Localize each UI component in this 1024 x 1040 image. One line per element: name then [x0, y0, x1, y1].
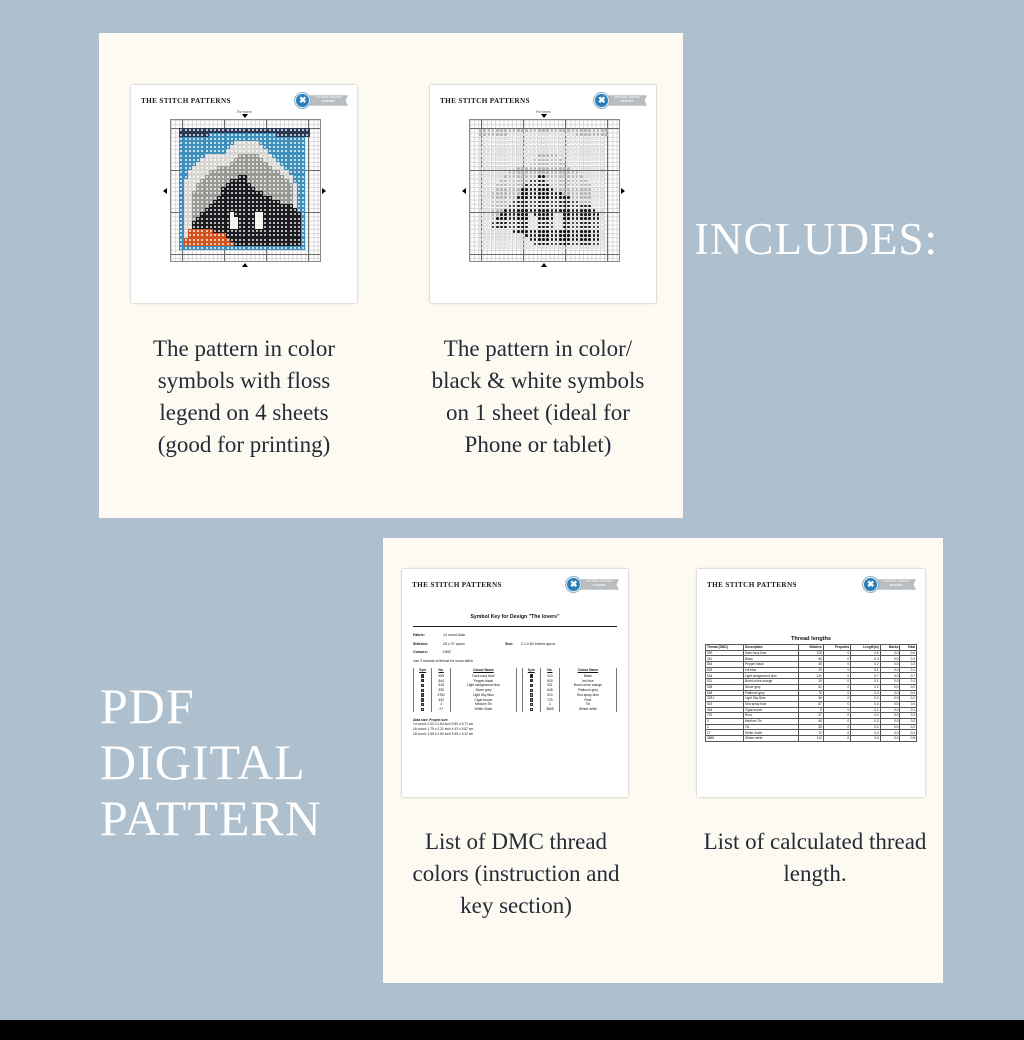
stitch-cell	[542, 238, 545, 241]
stitch-cell	[601, 180, 604, 183]
stitch-cell	[513, 150, 516, 153]
stitch-cell	[555, 184, 558, 187]
stitch-cell	[488, 196, 491, 199]
stitch-cell	[546, 230, 549, 233]
stitch-cell	[588, 175, 591, 178]
stitch-cell	[525, 209, 528, 212]
stitch-cell	[525, 129, 528, 132]
stitch-cell	[534, 175, 537, 178]
stitch-cell	[483, 142, 486, 145]
stitch-cell	[580, 167, 583, 170]
stitch-cell	[513, 146, 516, 149]
stitch-cell	[525, 205, 528, 208]
stitch-cell	[593, 154, 596, 157]
stitch-cell	[567, 238, 570, 241]
stitch-cell	[584, 217, 587, 220]
stitch-cell	[555, 230, 558, 233]
stitch-cell	[492, 192, 495, 195]
stitch-cell	[597, 217, 600, 220]
spec-row: Fabric:14 count Aida	[413, 633, 617, 637]
stitch-cell	[509, 238, 512, 241]
stitch-cell	[513, 243, 516, 246]
stitch-cell	[588, 230, 591, 233]
stitch-cell	[509, 150, 512, 153]
stitch-cell	[567, 154, 570, 157]
stitch-cell	[584, 196, 587, 199]
stitch-cell	[580, 238, 583, 241]
stitch-cell	[517, 201, 520, 204]
stitch-cell	[580, 230, 583, 233]
stitch-cell	[504, 188, 507, 191]
stitch-cell	[525, 247, 528, 250]
stitch-cell	[513, 205, 516, 208]
stitch-cell	[580, 209, 583, 212]
stitch-cell	[576, 133, 579, 136]
stitch-cell	[555, 175, 558, 178]
stitch-cell	[538, 142, 541, 145]
stitch-cell	[551, 180, 554, 183]
stitch-cell	[546, 171, 549, 174]
stitch-cell	[538, 154, 541, 157]
stitch-cell	[555, 159, 558, 162]
stitch-cell	[567, 205, 570, 208]
stitch-cell	[538, 150, 541, 153]
stitch-cell	[488, 234, 491, 237]
stitch-cell	[597, 133, 600, 136]
pdf-line-2: DIGITAL	[100, 734, 322, 790]
stitch-cell	[521, 142, 524, 145]
symbol-swatch-icon	[421, 674, 424, 677]
stitch-cell	[546, 238, 549, 241]
stitch-cell	[563, 159, 566, 162]
stitch-cell	[517, 209, 520, 212]
stitch-cell	[601, 201, 604, 204]
stitch-cell	[538, 184, 541, 187]
stitch-cell	[525, 230, 528, 233]
stitch-cell	[496, 209, 499, 212]
stitch-cell	[504, 201, 507, 204]
stitch-cell	[513, 171, 516, 174]
stitch-cell	[551, 138, 554, 141]
stitch-cell	[530, 129, 533, 132]
stitch-cell	[567, 167, 570, 170]
stitch-cell	[488, 226, 491, 229]
spec-row: Colours:DMC	[413, 650, 617, 654]
stitch-cell	[492, 154, 495, 157]
stitch-cell	[492, 238, 495, 241]
stitch-cell	[509, 175, 512, 178]
stitch-cell	[588, 138, 591, 141]
stitch-cell	[601, 150, 604, 153]
table-row: 3865Winter white11000.60.00.6	[706, 736, 917, 742]
stitch-cell	[488, 205, 491, 208]
stitch-cell	[563, 146, 566, 149]
stitch-cell	[525, 142, 528, 145]
stitch-cell	[517, 159, 520, 162]
stitch-cell	[605, 133, 608, 136]
spec-row: Stitches:28 x 37 aproxSize:2 x 2.64 inch…	[413, 642, 617, 646]
stitch-cell	[588, 205, 591, 208]
stitch-cell	[509, 142, 512, 145]
stitch-cell	[567, 230, 570, 233]
stitch-cell	[504, 129, 507, 132]
strands-note: Use 2 strands of thread for cross stitch	[413, 659, 617, 663]
stitch-cell	[534, 180, 537, 183]
stitch-cell	[551, 209, 554, 212]
stitch-cell	[530, 133, 533, 136]
stitch-cell	[601, 142, 604, 145]
stitch-cell	[504, 196, 507, 199]
symbol-swatch-cell	[414, 707, 432, 712]
stitch-cell	[479, 146, 482, 149]
stitch-cell	[488, 238, 491, 241]
stitch-cell	[546, 150, 549, 153]
stitch-cell	[567, 163, 570, 166]
stitch-cell	[597, 184, 600, 187]
stitch-cell	[551, 150, 554, 153]
stitch-cell	[584, 226, 587, 229]
stitch-cell	[580, 205, 583, 208]
stitch-cell	[563, 213, 566, 216]
stitch-cell	[576, 175, 579, 178]
sheet-header: THE STITCH PATTERNS ✖ PATTERN KEEPER TES…	[430, 85, 656, 108]
stitch-cell	[580, 201, 583, 204]
stitch-cell	[479, 209, 482, 212]
stitch-cell	[488, 159, 491, 162]
stitch-cell	[559, 222, 562, 225]
stitch-cell	[530, 175, 533, 178]
stitch-cell	[572, 150, 575, 153]
stitch-cell	[567, 213, 570, 216]
stitch-cell	[555, 217, 558, 220]
stitch-cell	[509, 213, 512, 216]
stitch-cell	[563, 133, 566, 136]
stitch-cell	[479, 159, 482, 162]
stitch-cell	[555, 238, 558, 241]
badge-ribbon: PATTERN KEEPER TESTED	[875, 579, 916, 589]
stitch-cell	[513, 226, 516, 229]
stitch-cell	[479, 180, 482, 183]
stitch-cell	[597, 213, 600, 216]
stitch-cell	[521, 129, 524, 132]
thread-lengths-title: Thread lengths	[705, 636, 917, 642]
stitch-cell	[567, 222, 570, 225]
stitch-cell	[509, 129, 512, 132]
stitch-cell	[492, 217, 495, 220]
sheet-header: THE STITCH PATTERNS ✖ PATTERN KEEPER TES…	[697, 569, 925, 592]
pdf-digital-pattern-heading: PDF DIGITAL PATTERN	[100, 678, 322, 846]
stitch-cell	[542, 213, 545, 216]
stitch-cell	[530, 163, 533, 166]
stitch-cell	[538, 230, 541, 233]
stitch-cell	[530, 138, 533, 141]
stitch-cell	[479, 142, 482, 145]
stitch-cell	[488, 188, 491, 191]
stitch-cell	[483, 213, 486, 216]
stitch-cell	[567, 175, 570, 178]
stitch-cell	[580, 142, 583, 145]
stitch-cell	[534, 217, 537, 220]
stitch-cell	[567, 243, 570, 246]
stitch-cell	[479, 222, 482, 225]
badge-ribbon: PATTERN KEEPER TESTED	[606, 95, 647, 105]
stitch-cell	[492, 180, 495, 183]
stitch-cell	[504, 150, 507, 153]
stitch-cell	[542, 133, 545, 136]
sheet-brand-title: THE STITCH PATTERNS	[412, 581, 502, 589]
stitch-cell	[534, 226, 537, 229]
stitch-cell	[500, 175, 503, 178]
stitch-cell	[479, 201, 482, 204]
stitch-cell	[500, 192, 503, 195]
stitch-cell	[488, 171, 491, 174]
stitch-cell	[492, 146, 495, 149]
stitch-cell	[555, 247, 558, 250]
stitch-cell	[601, 213, 604, 216]
stitch-cell	[584, 154, 587, 157]
spec-value-2	[521, 650, 583, 654]
stitch-cell	[500, 146, 503, 149]
stitch-cell	[488, 129, 491, 132]
stitch-cell	[521, 205, 524, 208]
stitch-cell	[576, 213, 579, 216]
stitch-cell	[483, 180, 486, 183]
stitch-cell	[546, 167, 549, 170]
stitch-cell	[513, 163, 516, 166]
chart-color: The lovers	[159, 111, 329, 271]
stitch-cell	[479, 163, 482, 166]
stitch-cell	[488, 175, 491, 178]
stitch-cell	[500, 234, 503, 237]
stitch-cell	[546, 196, 549, 199]
stitch-cell	[588, 238, 591, 241]
stitch-cell	[483, 163, 486, 166]
stitch-cell	[496, 205, 499, 208]
stitch-cell	[521, 192, 524, 195]
stitch-cell	[517, 238, 520, 241]
stitch-cell	[525, 167, 528, 170]
stitch-cell	[597, 209, 600, 212]
stitch-cell	[601, 129, 604, 132]
stitch-cell	[572, 175, 575, 178]
stitch-cell	[492, 129, 495, 132]
stitch-cell	[509, 133, 512, 136]
stitch-cell	[513, 180, 516, 183]
stitch-cell	[521, 247, 524, 250]
pattern-sheet-bw[interactable]: THE STITCH PATTERNS ✖ PATTERN KEEPER TES…	[430, 85, 656, 303]
stitch-cell	[580, 222, 583, 225]
pdf-line-3: PATTERN	[100, 790, 322, 846]
stitch-cell	[559, 133, 562, 136]
stitch-cell	[496, 222, 499, 225]
stitch-cell	[555, 209, 558, 212]
stitch-cell	[584, 222, 587, 225]
stitch-cell	[500, 138, 503, 141]
stitch-cell	[534, 184, 537, 187]
stitch-cell	[576, 196, 579, 199]
stitch-cell	[530, 142, 533, 145]
stitch-cell	[597, 196, 600, 199]
stitch-cell	[601, 247, 604, 250]
stitch-cell	[513, 247, 516, 250]
stitch-cell	[542, 217, 545, 220]
stitch-cell	[488, 213, 491, 216]
stitch-cell	[542, 209, 545, 212]
stitch-cell	[542, 184, 545, 187]
stitch-cell	[488, 142, 491, 145]
stitch-cell	[601, 205, 604, 208]
stitch-cell	[551, 171, 554, 174]
pattern-sheet-color[interactable]: THE STITCH PATTERNS ✖ PATTERN KEEPER TES…	[131, 85, 357, 303]
stitch-cell	[563, 201, 566, 204]
stitch-cell	[509, 188, 512, 191]
stitch-cell	[488, 133, 491, 136]
stitch-cell	[492, 196, 495, 199]
stitch-cell	[521, 167, 524, 170]
stitch-cell	[580, 213, 583, 216]
stitch-cell	[576, 234, 579, 237]
stitch-cell	[504, 209, 507, 212]
stitch-cell	[601, 238, 604, 241]
stitch-cell	[597, 150, 600, 153]
stitch-cell	[517, 129, 520, 132]
stitch-cell	[576, 226, 579, 229]
stitch-cell	[538, 213, 541, 216]
stitch-cell	[567, 209, 570, 212]
stitch-cell	[588, 201, 591, 204]
stitch-cell	[517, 234, 520, 237]
stitch-cell	[517, 154, 520, 157]
stitch-cell	[555, 188, 558, 191]
stitch-cell	[559, 138, 562, 141]
stitch-cell	[576, 247, 579, 250]
stitch-cell	[479, 167, 482, 170]
center-marker-top-icon	[242, 114, 248, 118]
stitch-cell	[563, 234, 566, 237]
stitch-cell	[504, 184, 507, 187]
stitch-cell	[546, 209, 549, 212]
stitch-cell	[593, 213, 596, 216]
stitch-cell	[521, 154, 524, 157]
stitch-cell	[597, 159, 600, 162]
stitch-cell	[496, 133, 499, 136]
stitch-cell	[500, 226, 503, 229]
stitch-cell	[580, 154, 583, 157]
stitch-cell	[563, 138, 566, 141]
stitch-cell	[530, 247, 533, 250]
stitch-cell	[597, 226, 600, 229]
stitch-cell	[483, 192, 486, 195]
stitch-cell	[551, 217, 554, 220]
symbol-swatch-icon	[421, 684, 424, 687]
stitch-cell	[542, 247, 545, 250]
stitch-cell	[559, 213, 562, 216]
stitch-cell	[597, 230, 600, 233]
stitch-cell	[521, 150, 524, 153]
stitch-cell	[580, 175, 583, 178]
stitch-cell	[542, 180, 545, 183]
stitch-cell	[530, 238, 533, 241]
stitch-cell	[546, 243, 549, 246]
stitch-cell	[601, 184, 604, 187]
stitch-cell	[521, 180, 524, 183]
stitch-cell	[534, 167, 537, 170]
stitch-cell	[525, 234, 528, 237]
stitch-cell	[483, 230, 486, 233]
stitch-cell	[496, 154, 499, 157]
stitch-cell	[483, 234, 486, 237]
stitch-cell	[517, 230, 520, 233]
stitch-cell	[576, 217, 579, 220]
stitch-cell	[492, 230, 495, 233]
badge-line2: TESTED	[614, 100, 640, 103]
stitch-cell	[538, 209, 541, 212]
stitch-cell	[496, 150, 499, 153]
stitch-cell	[542, 234, 545, 237]
stitch-cell	[504, 142, 507, 145]
stitch-cell	[601, 175, 604, 178]
stitch-cell	[576, 205, 579, 208]
stitch-cell	[525, 184, 528, 187]
table-cell: 0.0	[880, 736, 900, 742]
stitch-cell	[559, 196, 562, 199]
stitch-cell	[576, 171, 579, 174]
stitch-cell	[483, 196, 486, 199]
stitch-cell	[492, 175, 495, 178]
stitch-cell	[551, 196, 554, 199]
stitch-cell	[584, 243, 587, 246]
stitch-cell	[563, 167, 566, 170]
stitch-cell	[588, 243, 591, 246]
stitch-cell	[593, 159, 596, 162]
badge-seal-icon: ✖	[566, 577, 581, 592]
stitch-cell	[496, 192, 499, 195]
stitch-cell	[479, 133, 482, 136]
symbol-swatch-icon	[530, 684, 533, 687]
stitch-cell	[588, 146, 591, 149]
stitch-cell	[601, 234, 604, 237]
stitch-cell	[559, 234, 562, 237]
thread-lengths-sheet[interactable]: THE STITCH PATTERNS ✖ PATTERN KEEPER TES…	[697, 569, 925, 797]
stitch-cell	[530, 188, 533, 191]
pattern-keeper-badge: ✖ PATTERN KEEPER TESTED	[594, 93, 647, 108]
stitch-cell	[492, 167, 495, 170]
stitch-cell	[584, 230, 587, 233]
stitch-cell	[525, 138, 528, 141]
stitch-cell	[530, 222, 533, 225]
stitch-cell	[572, 188, 575, 191]
stitch-cell	[567, 150, 570, 153]
stitch-cell	[525, 154, 528, 157]
stitch-cell	[525, 159, 528, 162]
stitch-cell	[525, 192, 528, 195]
stitch-cell	[601, 167, 604, 170]
stitch-cell	[521, 159, 524, 162]
stitch-cell	[525, 150, 528, 153]
stitch-cell	[559, 180, 562, 183]
stitch-cell	[479, 138, 482, 141]
center-marker-right-icon	[621, 188, 625, 194]
stitch-cell	[488, 209, 491, 212]
stitch-cell	[597, 205, 600, 208]
stitch-cell	[479, 205, 482, 208]
stitch-cell	[593, 217, 596, 220]
stitch-cell	[500, 222, 503, 225]
symbol-key-sheet[interactable]: THE STITCH PATTERNS ✖ PATTERN KEEPER TES…	[402, 569, 628, 797]
stitch-cell	[551, 243, 554, 246]
stitch-cell	[521, 222, 524, 225]
stitch-cell	[488, 217, 491, 220]
